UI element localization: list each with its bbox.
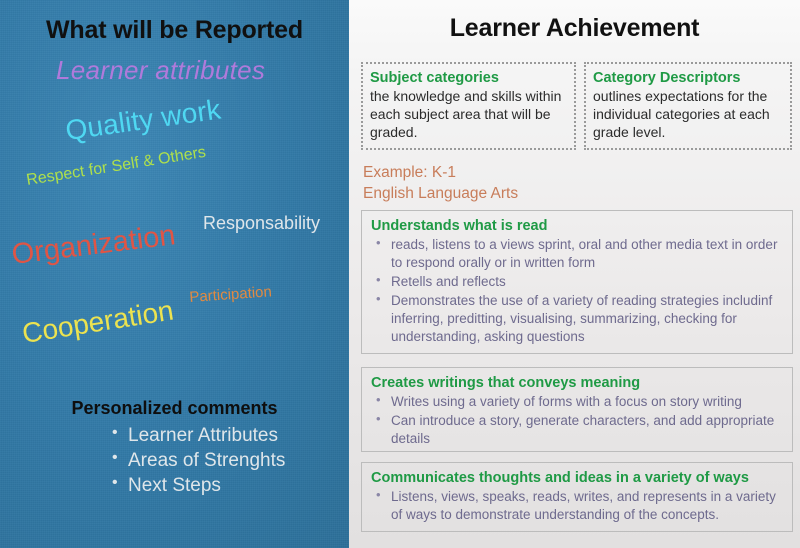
definition-card-heading: Category Descriptors xyxy=(593,69,783,87)
list-item: Demonstrates the use of a variety of rea… xyxy=(371,292,783,346)
slide-canvas: What will be Reported Learner attributes… xyxy=(0,0,800,548)
outcome-box-communicates-thoughts: Communicates thoughts and ideas in a var… xyxy=(361,462,793,532)
outcome-box-creates-writings: Creates writings that conveys meaning Wr… xyxy=(361,367,793,452)
word-cloud-organization: Organization xyxy=(10,219,177,272)
list-item: reads, listens to a views sprint, oral a… xyxy=(371,236,783,272)
list-item: Learner Attributes xyxy=(112,423,349,448)
personalized-comments-title: Personalized comments xyxy=(0,398,349,419)
definition-card-heading: Subject categories xyxy=(370,69,567,87)
definition-card-category-descriptors: Category Descriptors outlines expectatio… xyxy=(584,62,792,150)
list-item: Areas of Strenghts xyxy=(112,448,349,473)
word-cloud-participation: Participation xyxy=(189,283,273,306)
right-panel-title: Learner Achievement xyxy=(349,14,800,43)
definition-card-subject-categories: Subject categories the knowledge and ski… xyxy=(361,62,576,150)
word-cloud-cooperation: Cooperation xyxy=(20,295,176,350)
definition-card-body: outlines expectations for the individual… xyxy=(593,88,783,142)
definition-card-body: the knowledge and skills within each sub… xyxy=(370,88,567,142)
outcome-heading: Creates writings that conveys meaning xyxy=(371,375,783,391)
outcome-box-understands-what-is-read: Understands what is read reads, listens … xyxy=(361,210,793,354)
outcome-heading: Understands what is read xyxy=(371,218,783,234)
list-item: Can introduce a story, generate characte… xyxy=(371,412,783,448)
left-panel: What will be Reported Learner attributes… xyxy=(0,0,349,548)
personalized-comments-list: Learner Attributes Areas of Strenghts Ne… xyxy=(0,423,349,498)
list-item: Listens, views, speaks, reads, writes, a… xyxy=(371,488,783,524)
word-cloud-respect-for-self-and-others: Respect for Self & Others xyxy=(25,144,207,190)
word-cloud-learner-attributes: Learner attributes xyxy=(56,55,265,86)
list-item: Retells and reflects xyxy=(371,273,783,291)
left-panel-title: What will be Reported xyxy=(0,16,349,45)
right-panel: Learner Achievement Subject categories t… xyxy=(349,0,800,548)
list-item: Writes using a variety of forms with a f… xyxy=(371,393,783,411)
outcome-bullet-list: reads, listens to a views sprint, oral a… xyxy=(371,236,783,346)
list-item: Next Steps xyxy=(112,473,349,498)
outcome-heading: Communicates thoughts and ideas in a var… xyxy=(371,470,783,486)
outcome-bullet-list: Listens, views, speaks, reads, writes, a… xyxy=(371,488,783,524)
word-cloud-quality-work: Quality work xyxy=(64,94,223,147)
word-cloud-responsability: Responsability xyxy=(203,213,320,234)
personalized-comments-block: Personalized comments Learner Attributes… xyxy=(0,398,349,498)
outcome-bullet-list: Writes using a variety of forms with a f… xyxy=(371,393,783,448)
example-label: Example: K-1 English Language Arts xyxy=(363,163,518,205)
